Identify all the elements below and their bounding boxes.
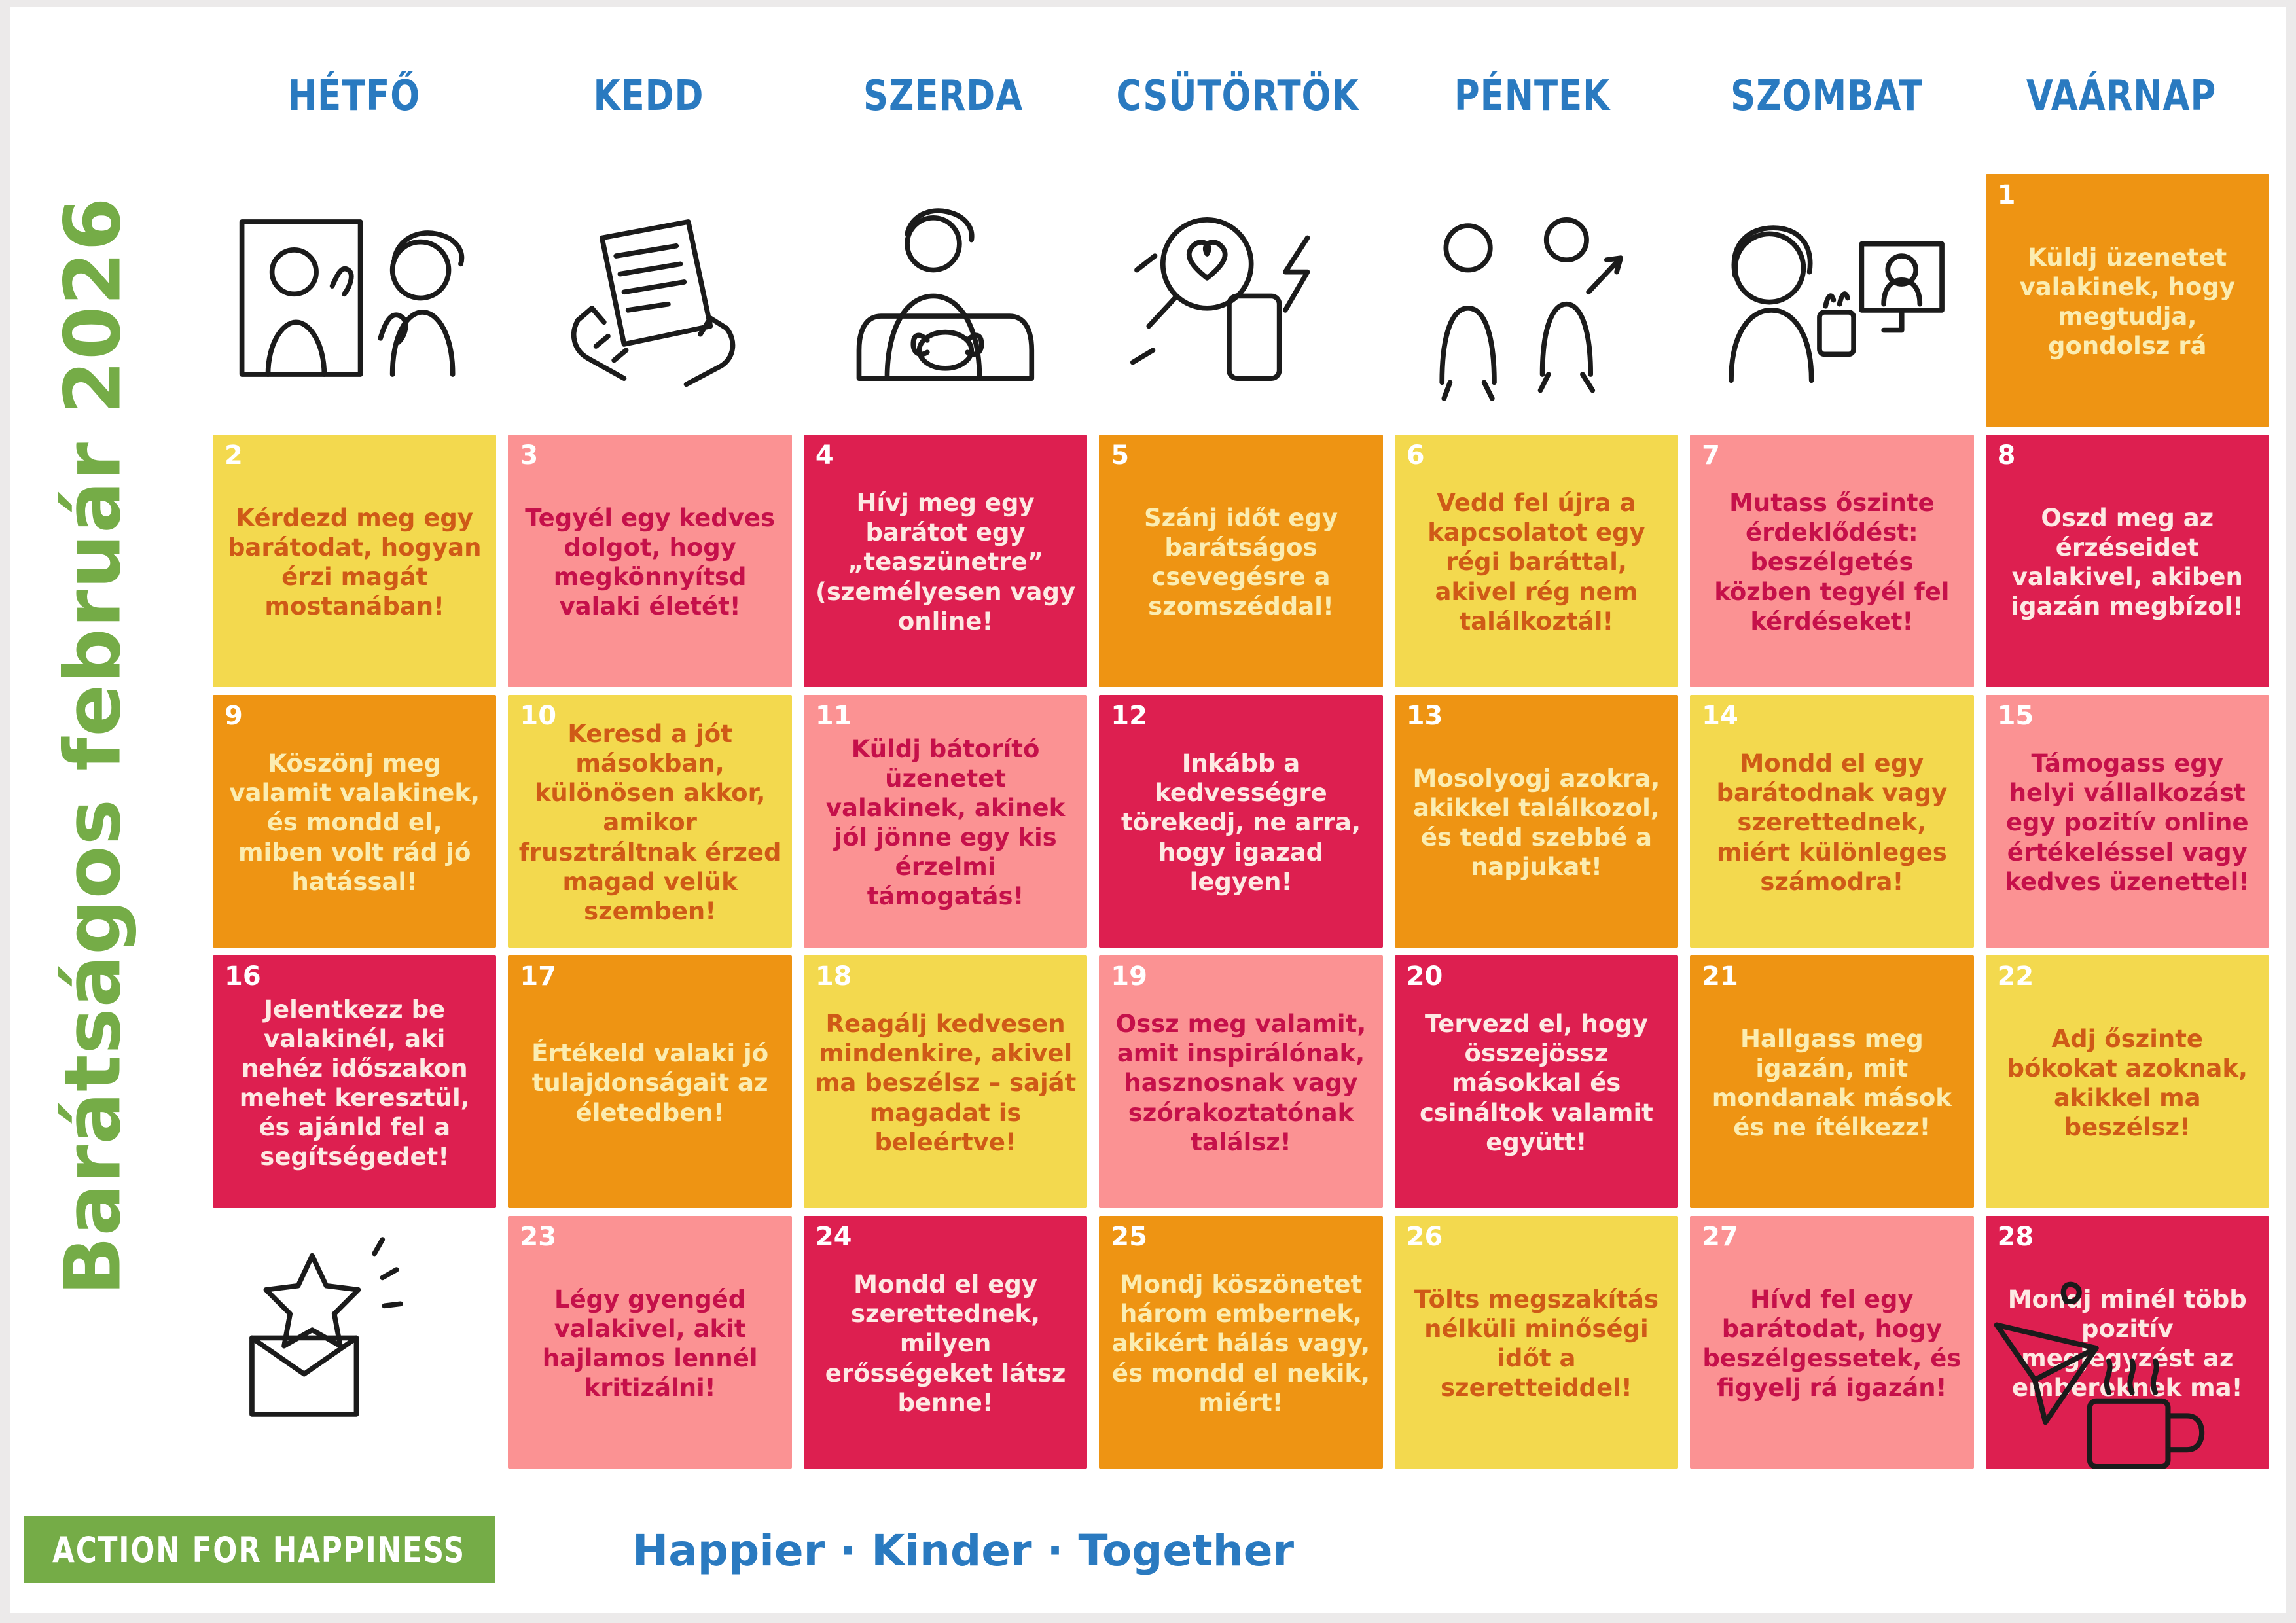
day-card-7[interactable]: 7Mutass őszinte érdeklődést: beszélgetés…	[1690, 435, 1973, 687]
day-card-20[interactable]: 20Tervezd el, hogy összejössz másokkal é…	[1395, 955, 1678, 1208]
day-header-4: CSÜTÖRTÖK	[1102, 72, 1373, 137]
day-action-text: Reagálj kedvesen mindenkire, akivel ma b…	[813, 1009, 1078, 1157]
day-card-8[interactable]: 8Oszd meg az érzéseidet valakivel, akibe…	[1986, 435, 2269, 687]
day-cell-1: 1Küldj üzenetet valakinek, hogy megtudja…	[1980, 170, 2275, 431]
day-number: 1	[1998, 182, 2016, 208]
day-number: 24	[816, 1224, 852, 1250]
tagline: Happier · Kinder · Together	[632, 1525, 1294, 1576]
illustration-cell	[1093, 170, 1388, 431]
day-action-text: Mosolyogj azokra, akikkel találkozol, és…	[1404, 764, 1669, 882]
day-action-text: Értékeld valaki jó tulajdonságait az éle…	[517, 1039, 782, 1127]
day-action-text: Szánj időt egy barátságos csevegésre a s…	[1108, 503, 1373, 622]
day-number: 15	[1998, 703, 2034, 729]
day-number: 25	[1111, 1224, 1147, 1250]
day-cell-2: 2Kérdezd meg egy barátodat, hogyan érzi …	[207, 431, 502, 691]
logo-text: ACTION FOR HAPPINESS	[53, 1529, 466, 1571]
day-card-6[interactable]: 6Vedd fel újra a kapcsolatot egy régi ba…	[1395, 435, 1678, 687]
day-cell-14: 14Mondd el egy barátodnak vagy szeretted…	[1684, 691, 1979, 952]
day-card-24[interactable]: 24Mondd el egy szerettednek, milyen erős…	[804, 1216, 1087, 1469]
day-action-text: Küldj bátorító üzenetet valakinek, akine…	[813, 734, 1078, 912]
day-number: 4	[816, 442, 834, 469]
day-number: 11	[816, 703, 852, 729]
day-number: 2	[224, 442, 243, 469]
day-number: 21	[1702, 963, 1738, 990]
magnifier-heart-phone-icon	[1099, 174, 1382, 427]
day-cell-20: 20Tervezd el, hogy összejössz másokkal é…	[1389, 952, 1684, 1212]
action-for-happiness-logo[interactable]: ACTION FOR HAPPINESS	[24, 1516, 495, 1583]
day-card-19[interactable]: 19Ossz meg valamit, amit inspirálónak, h…	[1099, 955, 1382, 1208]
day-card-2[interactable]: 2Kérdezd meg egy barátodat, hogyan érzi …	[213, 435, 496, 687]
envelope-star-icon	[213, 1216, 496, 1469]
day-action-text: Tölts megszakítás nélküli minőségi időt …	[1404, 1285, 1669, 1403]
day-card-26[interactable]: 26Tölts megszakítás nélküli minőségi idő…	[1395, 1216, 1678, 1469]
day-cell-25: 25Mondj köszönetet három embernek, akiké…	[1093, 1212, 1388, 1472]
illustration-cell	[502, 170, 797, 431]
day-card-4[interactable]: 4Hívj meg egy barátot egy „teaszünetre” …	[804, 435, 1087, 687]
day-cell-16: 16Jelentkezz be valakinél, aki nehéz idő…	[207, 952, 502, 1212]
day-number: 9	[224, 703, 243, 729]
day-number: 17	[520, 963, 556, 990]
day-number: 19	[1111, 963, 1147, 990]
illustration-cell	[207, 170, 502, 431]
day-number: 7	[1702, 442, 1720, 469]
day-card-5[interactable]: 5Szánj időt egy barátságos csevegésre a …	[1099, 435, 1382, 687]
day-card-18[interactable]: 18Reagálj kedvesen mindenkire, akivel ma…	[804, 955, 1087, 1208]
illustration-cell	[1684, 170, 1979, 431]
day-card-13[interactable]: 13Mosolyogj azokra, akikkel találkozol, …	[1395, 695, 1678, 948]
day-number: 10	[520, 703, 556, 729]
man-sofa-dog-icon	[804, 174, 1087, 427]
day-cell-23: 23Légy gyengéd valakivel, akit hajlamos …	[502, 1212, 797, 1472]
illustration-cell	[1389, 170, 1684, 431]
page-title-text: Barátságos február 2026	[47, 197, 137, 1296]
day-cell-6: 6Vedd fel újra a kapcsolatot egy régi ba…	[1389, 431, 1684, 691]
day-cell-10: 10Keresd a jót másokban, különösen akkor…	[502, 691, 797, 952]
day-action-text: Küldj üzenetet valakinek, hogy megtudja,…	[1995, 243, 2260, 361]
day-card-11[interactable]: 11Küldj bátorító üzenetet valakinek, aki…	[804, 695, 1087, 948]
day-header-6: SZOMBAT	[1691, 72, 1962, 137]
day-number: 22	[1998, 963, 2034, 990]
day-cell-3: 3Tegyél egy kedves dolgot, hogy megkönny…	[502, 431, 797, 691]
day-card-9[interactable]: 9Köszönj meg valamit valakinek, és mondd…	[213, 695, 496, 948]
day-action-text: Keresd a jót másokban, különösen akkor, …	[517, 719, 782, 926]
day-card-12[interactable]: 12Inkább a kedvességre törekedj, ne arra…	[1099, 695, 1382, 948]
day-number: 6	[1407, 442, 1425, 469]
day-action-text: Jelentkezz be valakinél, aki nehéz idősz…	[222, 995, 487, 1172]
day-number: 3	[520, 442, 538, 469]
day-action-text: Mutass őszinte érdeklődést: beszélgetés …	[1699, 488, 1964, 636]
day-card-10[interactable]: 10Keresd a jót másokban, különösen akkor…	[508, 695, 791, 948]
day-action-text: Mondd el egy szerettednek, milyen erőssé…	[813, 1270, 1078, 1418]
day-card-22[interactable]: 22Adj őszinte bókokat azoknak, akikkel m…	[1986, 955, 2269, 1208]
day-cell-12: 12Inkább a kedvességre törekedj, ne arra…	[1093, 691, 1388, 952]
day-header-7: VAÁRNAP	[1986, 72, 2257, 137]
day-number: 5	[1111, 442, 1129, 469]
day-number: 27	[1702, 1224, 1738, 1250]
page-title: Barátságos február 2026	[10, 85, 174, 1407]
day-cell-26: 26Tölts megszakítás nélküli minőségi idő…	[1389, 1212, 1684, 1472]
day-card-17[interactable]: 17Értékeld valaki jó tulajdonságait az é…	[508, 955, 791, 1208]
day-action-text: Adj őszinte bókokat azoknak, akikkel ma …	[1995, 1024, 2260, 1143]
window-wave-icon	[213, 174, 496, 427]
day-card-3[interactable]: 3Tegyél egy kedves dolgot, hogy megkönny…	[508, 435, 791, 687]
day-action-text: Ossz meg valamit, amit inspirálónak, has…	[1108, 1009, 1373, 1157]
day-header-row: HÉTFŐKEDDSZERDACSÜTÖRTÖKPÉNTEKSZOMBATVAÁ…	[207, 72, 2269, 137]
day-cell-7: 7Mutass őszinte érdeklődést: beszélgetés…	[1684, 431, 1979, 691]
day-number: 12	[1111, 703, 1147, 729]
day-header-2: KEDD	[513, 72, 784, 137]
day-number: 20	[1407, 963, 1443, 990]
day-action-text: Hívd fel egy barátodat, hogy beszélgesse…	[1699, 1285, 1964, 1403]
day-card-23[interactable]: 23Légy gyengéd valakivel, akit hajlamos …	[508, 1216, 791, 1469]
day-card-16[interactable]: 16Jelentkezz be valakinél, aki nehéz idő…	[213, 955, 496, 1208]
day-cell-19: 19Ossz meg valamit, amit inspirálónak, h…	[1093, 952, 1388, 1212]
day-card-25[interactable]: 25Mondj köszönetet három embernek, akiké…	[1099, 1216, 1382, 1469]
day-number: 8	[1998, 442, 2016, 469]
day-cell-24: 24Mondd el egy szerettednek, milyen erős…	[798, 1212, 1093, 1472]
day-number: 23	[520, 1224, 556, 1250]
day-number: 28	[1998, 1224, 2034, 1250]
day-cell-21: 21Hallgass meg igazán, mit mondanak máso…	[1684, 952, 1979, 1212]
day-action-text: Kérdezd meg egy barátodat, hogyan érzi m…	[222, 503, 487, 622]
day-action-text: Hívj meg egy barátot egy „teaszünetre” (…	[813, 488, 1078, 636]
day-action-text: Mondj köszönetet három embernek, akikért…	[1108, 1270, 1373, 1418]
day-cell-13: 13Mosolyogj azokra, akikkel találkozol, …	[1389, 691, 1684, 952]
day-card-15[interactable]: 15Támogass egy helyi vállalkozást egy po…	[1986, 695, 2269, 948]
day-cell-9: 9Köszönj meg valamit valakinek, és mondd…	[207, 691, 502, 952]
day-card-14[interactable]: 14Mondd el egy barátodnak vagy szeretted…	[1690, 695, 1973, 948]
day-number: 13	[1407, 703, 1443, 729]
calendar-sheet: Barátságos február 2026 HÉTFŐKEDDSZERDAC…	[10, 7, 2286, 1613]
day-action-text: Inkább a kedvességre törekedj, ne arra, …	[1108, 749, 1373, 897]
day-action-text: Oszd meg az érzéseidet valakivel, akiben…	[1995, 503, 2260, 622]
day-number: 14	[1702, 703, 1738, 729]
hands-letter-icon	[508, 174, 791, 427]
day-action-text: Tervezd el, hogy összejössz másokkal és …	[1404, 1009, 1669, 1157]
day-card-21[interactable]: 21Hallgass meg igazán, mit mondanak máso…	[1690, 955, 1973, 1208]
day-number: 16	[224, 963, 261, 990]
day-cell-5: 5Szánj időt egy barátságos csevegésre a …	[1093, 431, 1388, 691]
paper-plane-cup-icon	[1971, 1266, 2246, 1502]
day-cell-8: 8Oszd meg az érzéseidet valakivel, akibe…	[1980, 431, 2275, 691]
day-cell-27: 27Hívd fel egy barátodat, hogy beszélges…	[1684, 1212, 1979, 1472]
day-header-3: SZERDA	[808, 72, 1079, 137]
day-action-text: Tegyél egy kedves dolgot, hogy megkönnyí…	[517, 503, 782, 622]
day-cell-17: 17Értékeld valaki jó tulajdonságait az é…	[502, 952, 797, 1212]
day-cell-22: 22Adj őszinte bókokat azoknak, akikkel m…	[1980, 952, 2275, 1212]
day-number: 18	[816, 963, 852, 990]
day-header-1: HÉTFŐ	[219, 72, 490, 137]
day-cell-11: 11Küldj bátorító üzenetet valakinek, aki…	[798, 691, 1093, 952]
day-cell-18: 18Reagálj kedvesen mindenkire, akivel ma…	[798, 952, 1093, 1212]
day-number: 26	[1407, 1224, 1443, 1250]
illustration-cell	[207, 1212, 502, 1472]
day-card-27[interactable]: 27Hívd fel egy barátodat, hogy beszélges…	[1690, 1216, 1973, 1469]
woman-videocall-icon	[1690, 174, 1973, 427]
day-action-text: Mondd el egy barátodnak vagy szerettedne…	[1699, 749, 1964, 897]
people-greeting-icon	[1395, 174, 1678, 427]
day-action-text: Támogass egy helyi vállalkozást egy pozi…	[1995, 749, 2260, 897]
day-action-text: Hallgass meg igazán, mit mondanak mások …	[1699, 1024, 1964, 1143]
day-card-1[interactable]: 1Küldj üzenetet valakinek, hogy megtudja…	[1986, 174, 2269, 427]
footer: ACTION FOR HAPPINESS Happier · Kinder · …	[24, 1516, 2249, 1588]
day-action-text: Vedd fel újra a kapcsolatot egy régi bar…	[1404, 488, 1669, 636]
day-cell-4: 4Hívj meg egy barátot egy „teaszünetre” …	[798, 431, 1093, 691]
day-header-5: PÉNTEK	[1397, 72, 1668, 137]
day-cell-15: 15Támogass egy helyi vállalkozást egy po…	[1980, 691, 2275, 952]
day-action-text: Légy gyengéd valakivel, akit hajlamos le…	[517, 1285, 782, 1403]
illustration-cell	[798, 170, 1093, 431]
day-action-text: Köszönj meg valamit valakinek, és mondd …	[222, 749, 487, 897]
calendar-grid: 1Küldj üzenetet valakinek, hogy megtudja…	[207, 170, 2275, 1472]
